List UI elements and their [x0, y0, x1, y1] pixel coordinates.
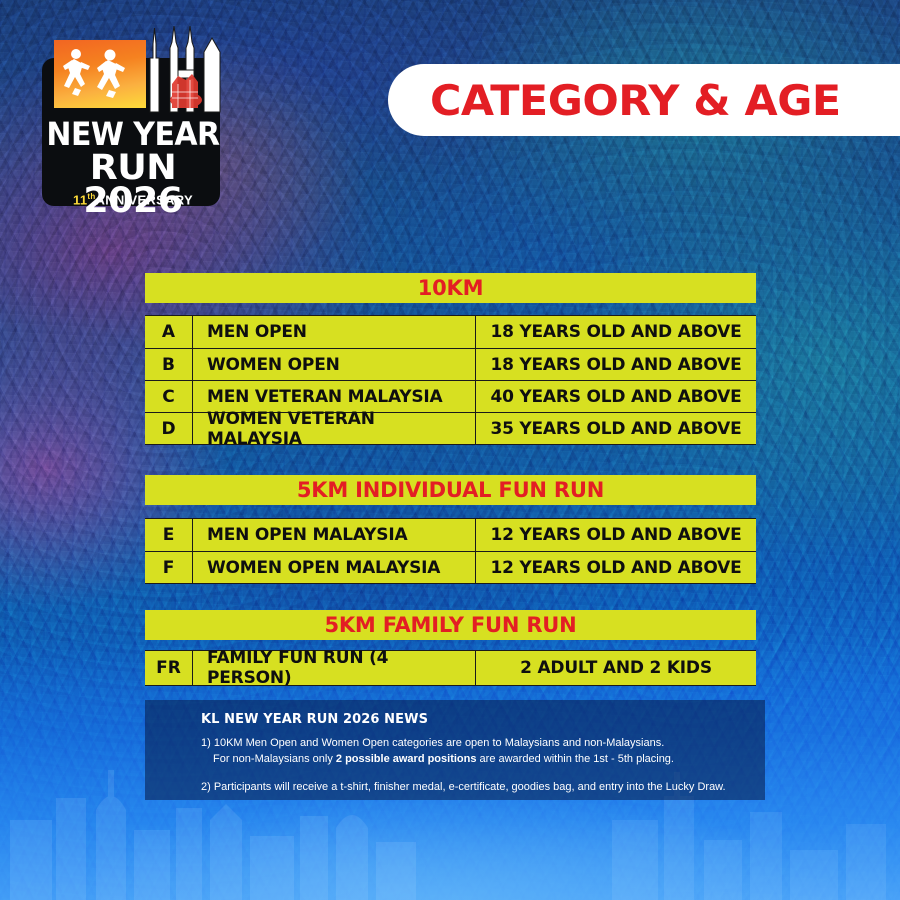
- row-age: 2 ADULT AND 2 KIDS: [476, 651, 756, 685]
- anniversary-suffix: th: [87, 192, 95, 201]
- row-code: D: [145, 413, 192, 444]
- table-10km: A MEN OPEN 18 YEARS OLD AND ABOVE B WOME…: [145, 315, 756, 445]
- row-code: FR: [145, 651, 192, 685]
- poster-canvas: NEW YEAR RUN 2026 11thANNIVERSARY CATEGO…: [0, 0, 900, 900]
- row-code: C: [145, 381, 192, 412]
- table-row: D WOMEN VETERAN MALAYSIA 35 YEARS OLD AN…: [145, 412, 756, 444]
- row-category: MEN OPEN MALAYSIA: [192, 519, 476, 551]
- row-code: E: [145, 519, 192, 551]
- row-age: 40 YEARS OLD AND ABOVE: [476, 381, 756, 412]
- section-10km: 10KM: [145, 273, 756, 303]
- table-row: FR FAMILY FUN RUN (4 PERSON) 2 ADULT AND…: [145, 651, 756, 685]
- news-spacer: [201, 768, 745, 780]
- news-item-1-bold: 2 possible award positions: [336, 753, 477, 765]
- row-code: F: [145, 552, 192, 583]
- row-code: B: [145, 349, 192, 380]
- row-age: 18 YEARS OLD AND ABOVE: [476, 316, 756, 348]
- event-logo: NEW YEAR RUN 2026 11thANNIVERSARY: [38, 32, 228, 212]
- section-header-5km-family: 5KM FAMILY FUN RUN: [145, 610, 756, 640]
- section-heading-label: 5KM FAMILY FUN RUN: [324, 613, 576, 637]
- logo-anniversary: 11thANNIVERSARY: [38, 192, 228, 207]
- news-item-1-line-2: For non-Malaysians only 2 possible award…: [201, 752, 745, 768]
- page-title: CATEGORY & AGE: [430, 76, 841, 125]
- section-5km-individual: 5KM INDIVIDUAL FUN RUN: [145, 475, 756, 505]
- anniversary-number: 11: [73, 192, 87, 207]
- news-item-1-post: are awarded within the 1st - 5th placing…: [476, 753, 674, 765]
- kl-monogram: [54, 40, 146, 108]
- row-age: 18 YEARS OLD AND ABOVE: [476, 349, 756, 380]
- row-category: MEN OPEN: [192, 316, 476, 348]
- table-row: E MEN OPEN MALAYSIA 12 YEARS OLD AND ABO…: [145, 519, 756, 551]
- row-category: WOMEN OPEN: [192, 349, 476, 380]
- table-5km-individual: E MEN OPEN MALAYSIA 12 YEARS OLD AND ABO…: [145, 518, 756, 584]
- row-age: 12 YEARS OLD AND ABOVE: [476, 519, 756, 551]
- row-age: 12 YEARS OLD AND ABOVE: [476, 552, 756, 583]
- row-category: MEN VETERAN MALAYSIA: [192, 381, 476, 412]
- row-category: FAMILY FUN RUN (4 PERSON): [192, 651, 476, 685]
- table-row: F WOMEN OPEN MALAYSIA 12 YEARS OLD AND A…: [145, 551, 756, 583]
- logo-line-new-year: NEW YEAR: [34, 120, 232, 150]
- section-heading-label: 5KM INDIVIDUAL FUN RUN: [297, 478, 604, 502]
- section-heading-label: 10KM: [418, 276, 484, 300]
- row-age: 35 YEARS OLD AND ABOVE: [476, 413, 756, 444]
- section-header-5km-individual: 5KM INDIVIDUAL FUN RUN: [145, 475, 756, 505]
- section-header-10km: 10KM: [145, 273, 756, 303]
- logo-line-run-2026: RUN 2026: [34, 152, 232, 217]
- row-category: WOMEN VETERAN MALAYSIA: [192, 413, 476, 444]
- news-item-1-pre: For non-Malaysians only: [213, 753, 336, 765]
- table-row: A MEN OPEN 18 YEARS OLD AND ABOVE: [145, 316, 756, 348]
- row-code: A: [145, 316, 192, 348]
- section-5km-family: 5KM FAMILY FUN RUN: [145, 610, 756, 640]
- news-item-2: 2) Participants will receive a t-shirt, …: [201, 780, 745, 796]
- table-row: C MEN VETERAN MALAYSIA 40 YEARS OLD AND …: [145, 380, 756, 412]
- table-5km-family: FR FAMILY FUN RUN (4 PERSON) 2 ADULT AND…: [145, 650, 756, 686]
- anniversary-label: ANNIVERSARY: [96, 192, 193, 207]
- page-title-banner: CATEGORY & AGE: [388, 64, 900, 136]
- news-panel: KL NEW YEAR RUN 2026 NEWS 1) 10KM Men Op…: [145, 700, 765, 800]
- news-title: KL NEW YEAR RUN 2026 NEWS: [201, 712, 745, 727]
- row-category: WOMEN OPEN MALAYSIA: [192, 552, 476, 583]
- table-row: B WOMEN OPEN 18 YEARS OLD AND ABOVE: [145, 348, 756, 380]
- news-item-1-line-1: 1) 10KM Men Open and Women Open categori…: [201, 736, 745, 752]
- kl-landmarks-icon: [142, 18, 228, 114]
